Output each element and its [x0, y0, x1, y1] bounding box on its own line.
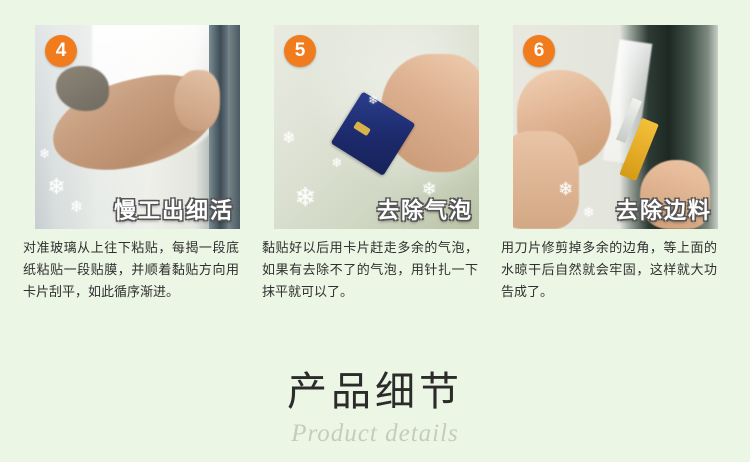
step-photo-5: ❄ ❄ ❄ ❄ ❄ 5 去除气泡: [274, 25, 479, 229]
step-number-badge-6: 6: [523, 35, 555, 67]
step-panel-6: ❄ ❄ 6 去除边料 用刀片修剪掉多余的边角，等上面的水晾干后自然就会牢固，这样…: [500, 25, 718, 304]
forearm-shape: [513, 131, 579, 229]
step-description-6: 用刀片修剪掉多余的边角，等上面的水晾干后自然就会牢固，这样就大功告成了。: [500, 238, 718, 304]
step-number-badge-4: 4: [45, 35, 77, 67]
section-title-en: Product details: [0, 419, 750, 449]
right-hand-shape: [174, 70, 219, 131]
step-description-4: 对准玻璃从上往下粘贴，每揭一段底纸粘贴一段贴膜，并顺着黏贴方向用卡片刮平，如此循…: [22, 238, 240, 304]
section-title-cn: 产品细节: [0, 368, 750, 416]
step-description-5: 黏贴好以后用卡片赶走多余的气泡，如果有去除不了的气泡，用针扎一下抹平就可以了。: [261, 238, 479, 304]
step-photo-4: ❄ ❄ ❄ 4 慢工出细活: [35, 25, 240, 229]
step-photo-6: ❄ ❄ 6 去除边料: [513, 25, 718, 229]
step-panel-5: ❄ ❄ ❄ ❄ ❄ 5 去除气泡 黏贴好以后用卡片赶走多余的气泡，如果有去除不了…: [261, 25, 479, 304]
installation-steps-row: ❄ ❄ ❄ 4 慢工出细活 对准玻璃从上往下粘贴，每揭一段底纸粘贴一段贴膜，并顺…: [0, 25, 750, 304]
step-number-badge-5: 5: [284, 35, 316, 67]
step-caption-6: 去除边料: [616, 193, 712, 225]
section-footer: 产品细节 Product details: [0, 368, 750, 449]
step-caption-5: 去除气泡: [377, 193, 473, 225]
product-detail-page: ❄ ❄ ❄ 4 慢工出细活 对准玻璃从上往下粘贴，每揭一段底纸粘贴一段贴膜，并顺…: [0, 0, 750, 462]
step-caption-4: 慢工出细活: [114, 193, 234, 225]
step-panel-4: ❄ ❄ ❄ 4 慢工出细活 对准玻璃从上往下粘贴，每揭一段底纸粘贴一段贴膜，并顺…: [22, 25, 240, 304]
